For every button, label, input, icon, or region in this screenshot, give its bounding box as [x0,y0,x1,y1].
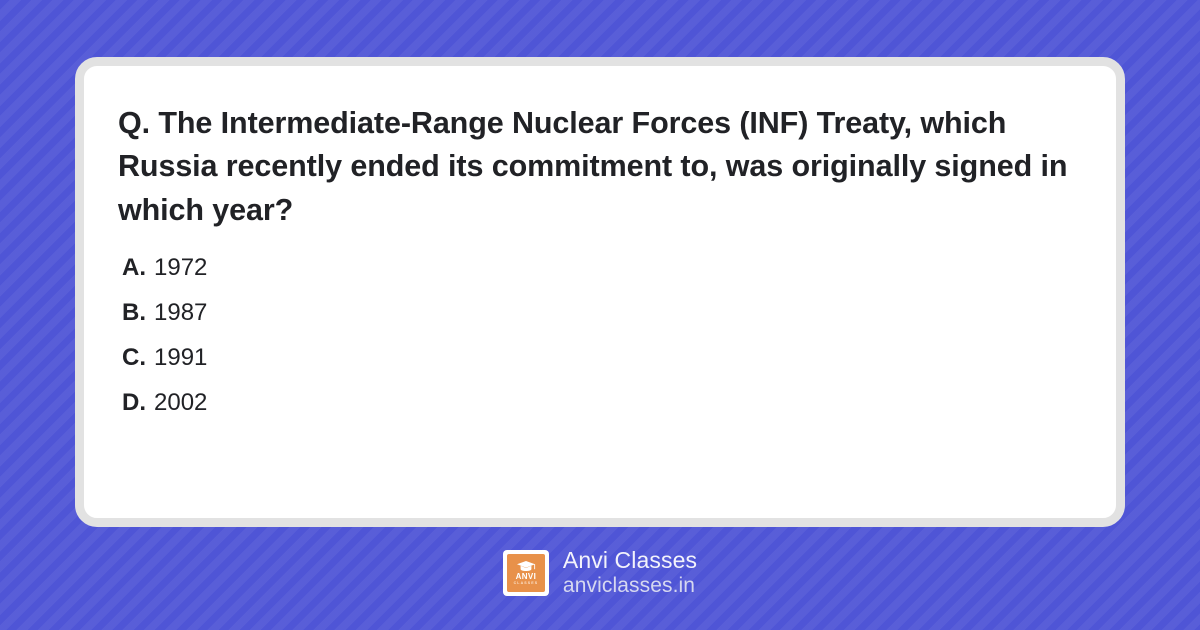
option-text-b: 1987 [154,301,207,325]
option-letter-c: C. [122,346,146,370]
graduation-cap-icon [516,560,536,572]
brand-footer: ANVI CLASSES Anvi Classes anviclasses.in [0,548,1200,597]
question-card: Q. The Intermediate-Range Nuclear Forces… [75,57,1125,527]
option-letter-b: B. [122,301,146,325]
option-letter-d: D. [122,391,146,415]
brand-text-block: Anvi Classes anviclasses.in [563,548,697,597]
brand-name: Anvi Classes [563,548,697,574]
option-row-c[interactable]: C. 1991 [122,346,1082,370]
brand-logo-name: ANVI [516,573,537,581]
options-list: A. 1972 B. 1987 C. 1991 D. 2002 [118,256,1082,415]
option-row-b[interactable]: B. 1987 [122,301,1082,325]
option-row-a[interactable]: A. 1972 [122,256,1082,280]
option-text-d: 2002 [154,391,207,415]
option-row-d[interactable]: D. 2002 [122,391,1082,415]
brand-logo: ANVI CLASSES [503,550,549,596]
brand-logo-tile: ANVI CLASSES [507,554,545,592]
option-letter-a: A. [122,256,146,280]
question-text: Q. The Intermediate-Range Nuclear Forces… [118,102,1078,232]
brand-logo-subtitle: CLASSES [514,582,539,586]
option-text-c: 1991 [154,346,207,370]
brand-url[interactable]: anviclasses.in [563,574,697,598]
option-text-a: 1972 [154,256,207,280]
